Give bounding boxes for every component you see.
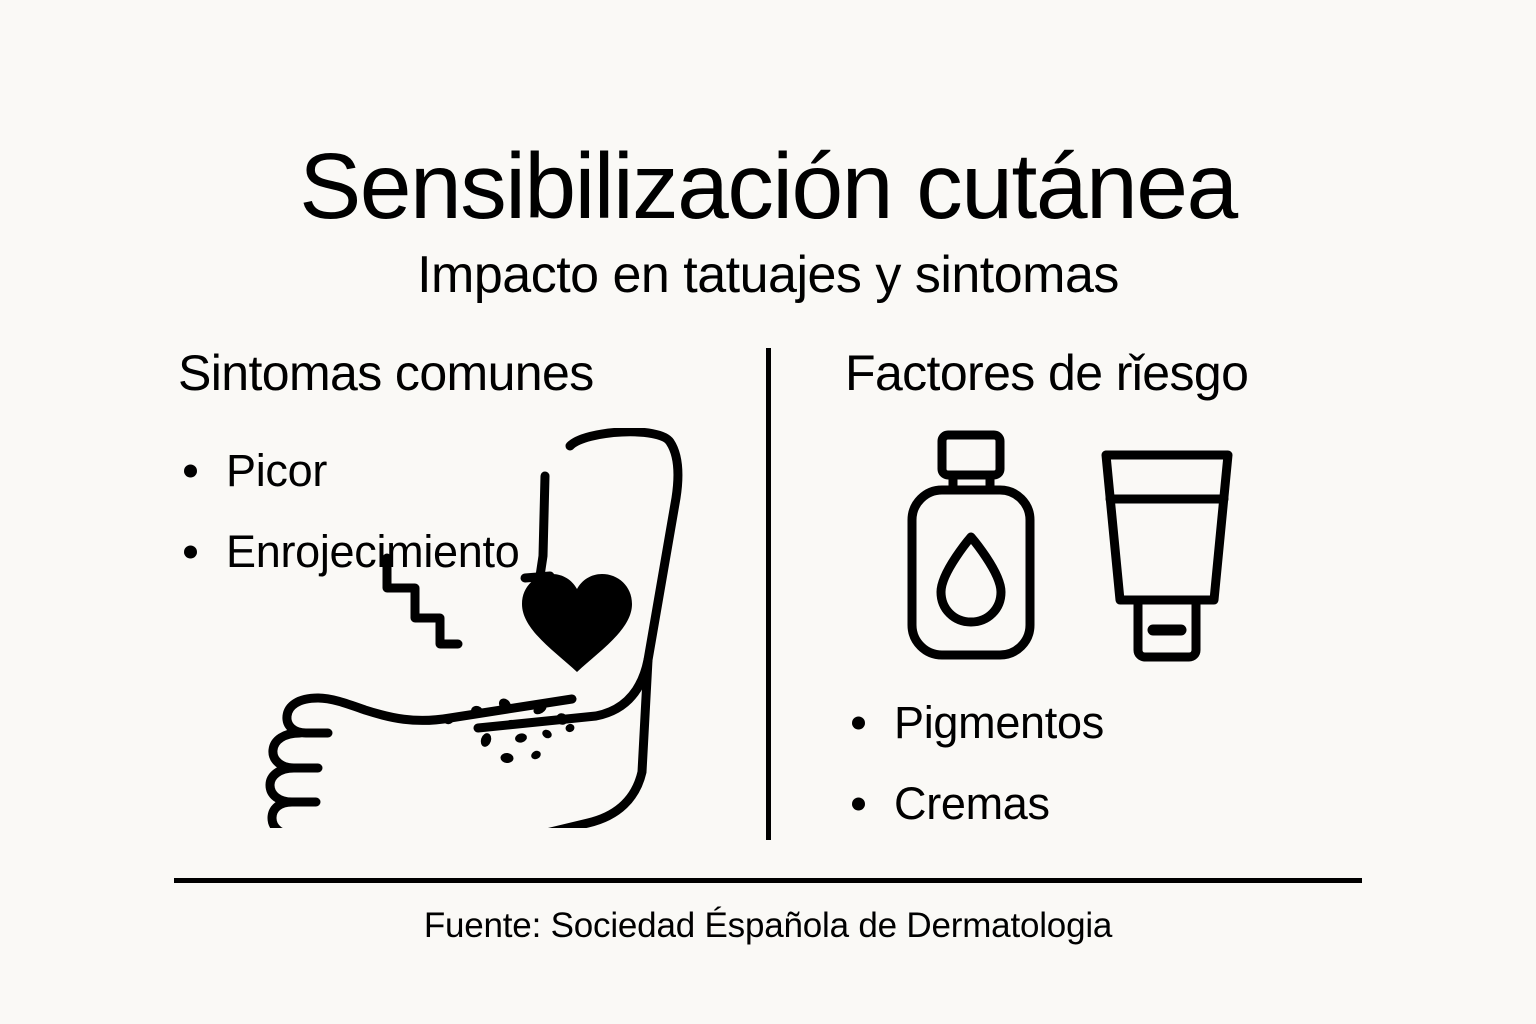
droplet-icon [941, 537, 1001, 622]
heart-icon [522, 574, 632, 672]
rash-dots-icon [443, 696, 576, 763]
list-item-label: Pigmentos [894, 697, 1104, 748]
list-item-label: Cremas [894, 778, 1050, 829]
lotion-bottle-icon [912, 435, 1030, 655]
source-attribution: Fuente: Sociedad Éspañola de Dermatologi… [0, 908, 1536, 943]
bullet-dot-icon [852, 797, 865, 810]
risk-product-icons [898, 420, 1248, 670]
footer-divider [174, 878, 1362, 883]
list-item: Pigmentos [850, 700, 1104, 745]
bullet-dot-icon [184, 545, 197, 558]
list-item: Cremas [850, 781, 1104, 826]
infographic-canvas: Sensibilización cutánea Impacto en tatua… [0, 0, 1536, 1024]
forearm-rash-icon [240, 428, 710, 828]
bullet-dot-icon [184, 464, 197, 477]
right-column-heading: Factores de rǐesgo [845, 348, 1248, 398]
column-divider [766, 348, 771, 840]
left-column-heading: Sintomas comunes [178, 348, 594, 398]
bullet-dot-icon [852, 716, 865, 729]
cream-tube-icon [1106, 455, 1228, 657]
page-title: Sensibilización cutánea [0, 140, 1536, 233]
risk-factors-list: Pigmentos Cremas [850, 700, 1104, 862]
page-subtitle: Impacto en tatuajes y sintomas [0, 249, 1536, 301]
